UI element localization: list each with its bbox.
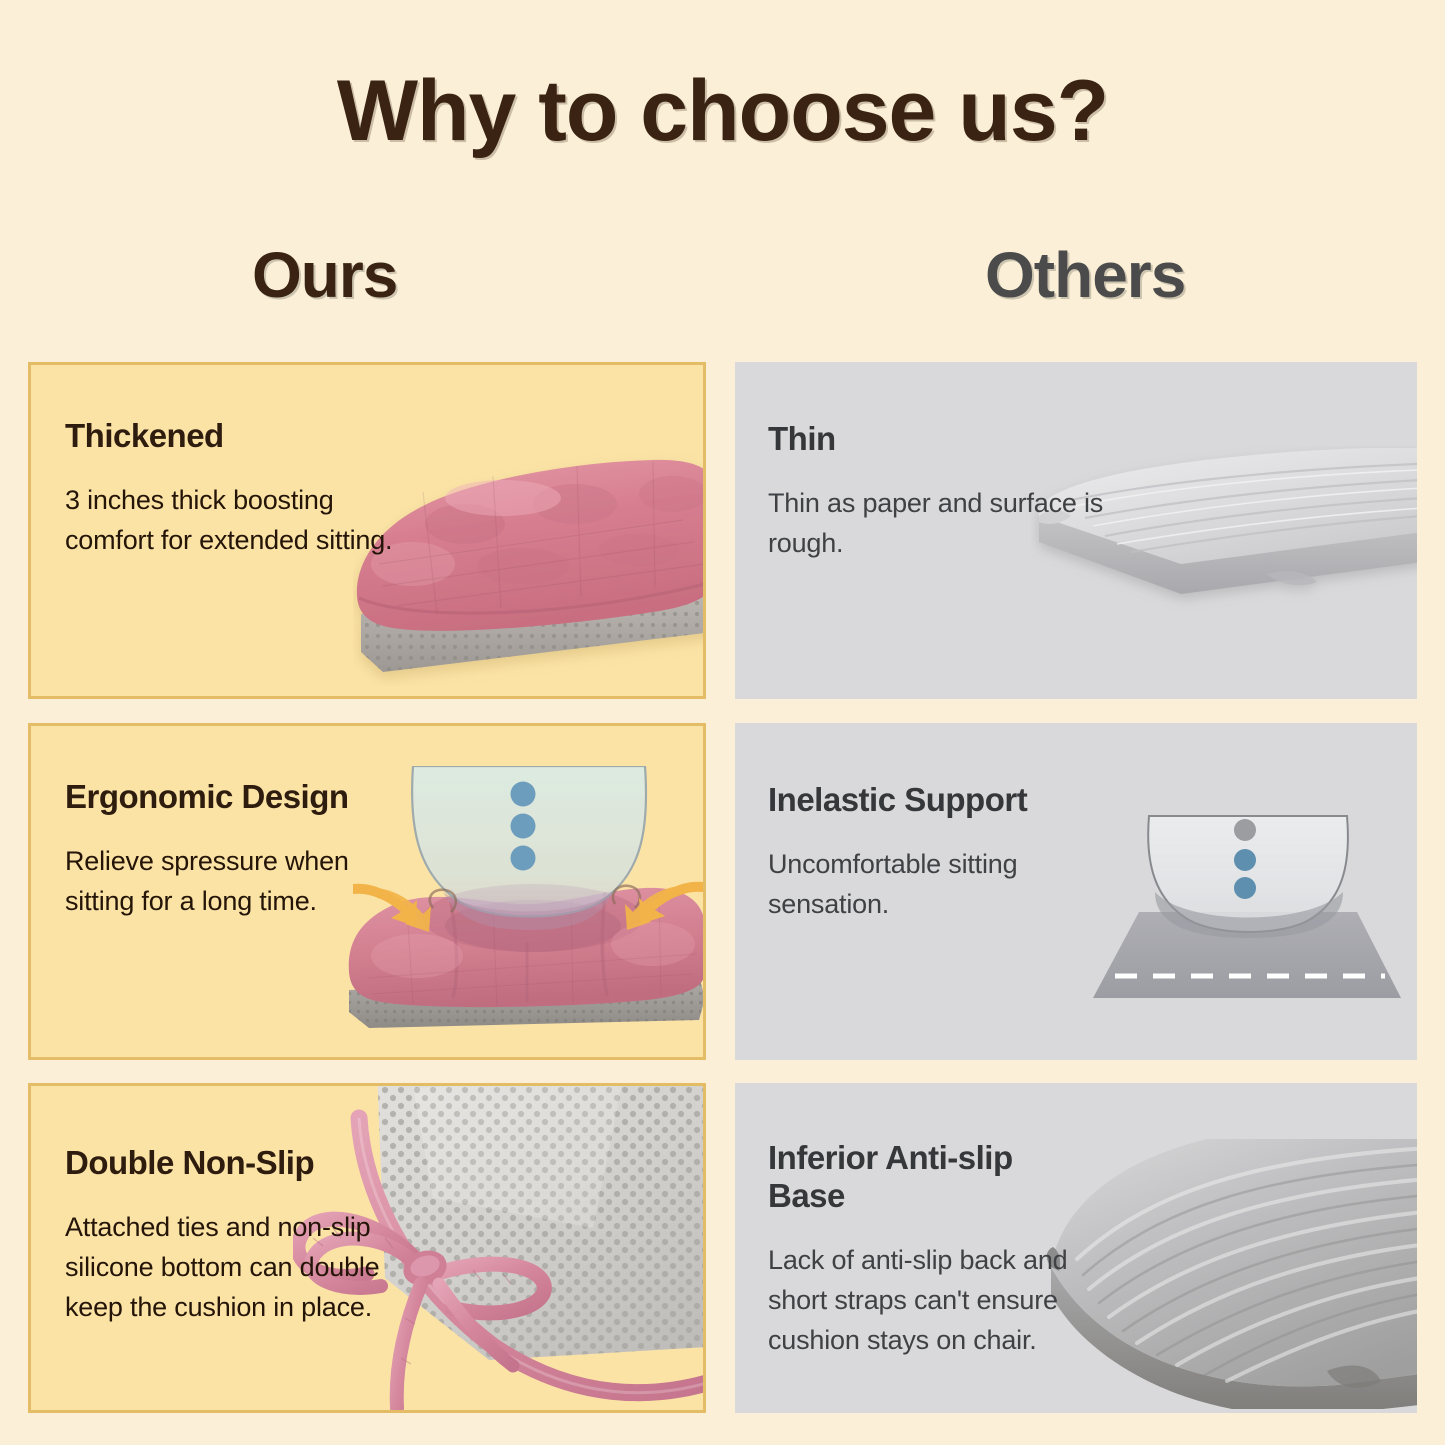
- card-ours-thickened: Thickened 3 inches thick boosting comfor…: [28, 362, 706, 699]
- pressure-dot: [1234, 819, 1256, 841]
- card-description: Attached ties and non-slip silicone bott…: [65, 1208, 431, 1328]
- card-description: Uncomfortable sitting sensation.: [768, 845, 1105, 925]
- card-description: 3 inches thick boosting comfort for exte…: [65, 481, 401, 561]
- card-text-block: Thickened 3 inches thick boosting comfor…: [31, 365, 401, 561]
- pressure-dot: [511, 846, 536, 871]
- card-title: Inelastic Support: [768, 781, 1105, 819]
- thick-pink-cushion-photo: [353, 446, 706, 686]
- card-text-block: Thin Thin as paper and surface is rough.: [735, 362, 1105, 564]
- card-title: Thin: [768, 420, 1105, 458]
- pressure-dot: [511, 814, 536, 839]
- card-title: Double Non-Slip: [65, 1144, 431, 1182]
- card-title: Thickened: [65, 417, 401, 455]
- column-header-ours: Ours: [252, 238, 397, 312]
- card-others-thin: Thin Thin as paper and surface is rough.: [735, 362, 1417, 699]
- card-ours-double-non-slip: Double Non-Slip Attached ties and non-sl…: [28, 1083, 706, 1413]
- card-description: Thin as paper and surface is rough.: [768, 484, 1105, 564]
- card-text-block: Inelastic Support Uncomfortable sitting …: [735, 723, 1105, 925]
- flat-gray-support-diagram: [1093, 808, 1403, 1008]
- card-title: Inferior Anti-slip Base: [768, 1139, 1095, 1215]
- infographic-page: Why to choose us? Ours Others: [0, 0, 1445, 1445]
- card-text-block: Inferior Anti-slip Base Lack of anti-sli…: [735, 1083, 1095, 1361]
- card-description: Lack of anti-slip back and short straps …: [768, 1241, 1095, 1361]
- column-header-others: Others: [985, 238, 1185, 312]
- pressure-dot: [1234, 877, 1256, 899]
- card-ours-ergonomic: Ergonomic Design Relieve spressure when …: [28, 723, 706, 1060]
- card-others-inferior-base: Inferior Anti-slip Base Lack of anti-sli…: [735, 1083, 1417, 1413]
- pressure-dot: [1234, 849, 1256, 871]
- pressure-dot: [511, 782, 536, 807]
- card-others-inelastic: Inelastic Support Uncomfortable sitting …: [735, 723, 1417, 1060]
- card-title: Ergonomic Design: [65, 778, 401, 816]
- card-text-block: Ergonomic Design Relieve spressure when …: [31, 726, 401, 922]
- card-text-block: Double Non-Slip Attached ties and non-sl…: [31, 1086, 431, 1328]
- card-description: Relieve spressure when sitting for a lon…: [65, 842, 401, 922]
- page-title: Why to choose us?: [0, 62, 1445, 161]
